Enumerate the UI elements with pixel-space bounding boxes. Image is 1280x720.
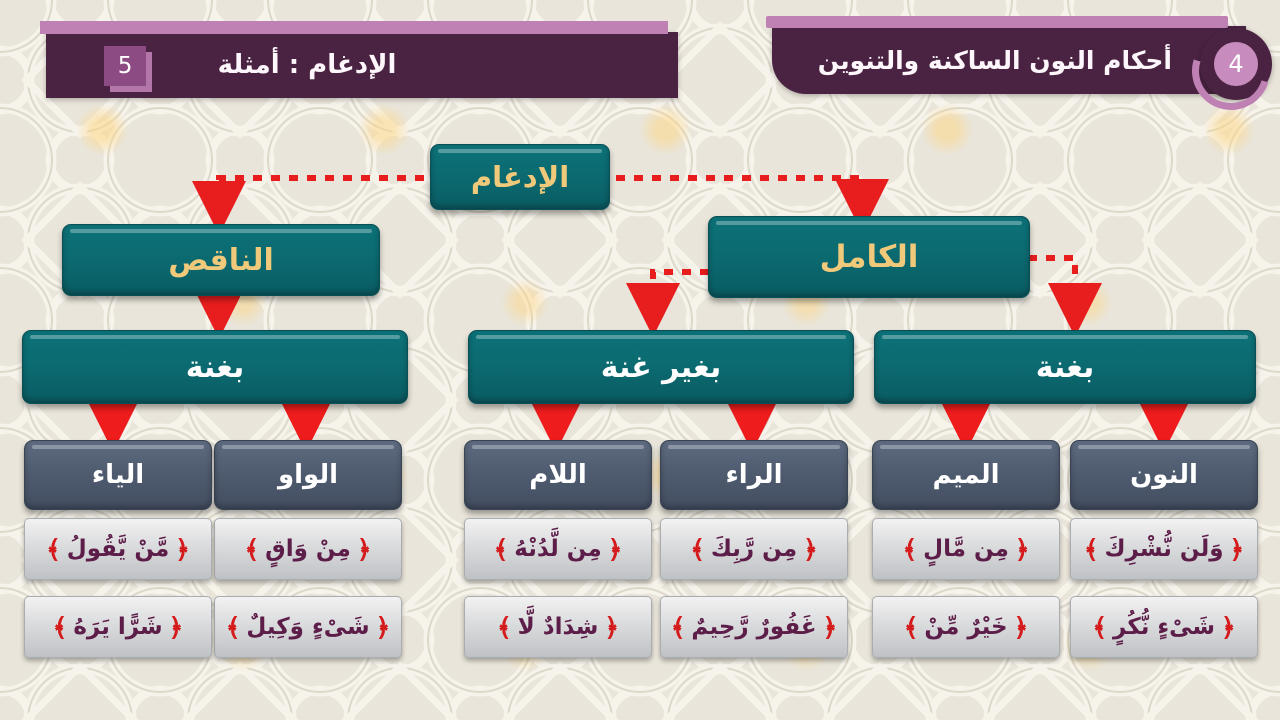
ayah-text: شَىْءٍ نُّكُرٍ <box>1113 614 1215 640</box>
lesson-title-bar: أحكام النون الساكنة والتنوين <box>772 26 1246 94</box>
node-kamil[interactable]: الكامل <box>708 216 1030 298</box>
example-noon-1[interactable]: ﴿ وَلَن نُّشْرِكَ ﴾ <box>1070 518 1258 580</box>
ayah-text: غَفُورٌ رَّحِيمٌ <box>691 614 816 640</box>
letter-box-raa[interactable]: الراء <box>660 440 848 510</box>
ayah-text: شَىْءٍ وَكِيلٌ <box>246 614 369 640</box>
example-meem-2[interactable]: ﴿ خَيْرٌ مِّنْ ﴾ <box>872 596 1060 658</box>
node-highlight <box>882 335 1248 339</box>
ayah-ornament-close: ﴾ <box>226 613 241 642</box>
ayah-ornament-close: ﴾ <box>904 613 919 642</box>
node-bighunnah-kamil[interactable]: بغنة <box>874 330 1256 404</box>
subtitle-accent-strip <box>40 21 668 34</box>
ayah-ornament-open: ﴿ <box>608 535 623 564</box>
ayah-text: مِنْ وَاقٍ <box>265 536 351 562</box>
node-bighunnah-naqis-label: بغنة <box>186 350 245 385</box>
letter-box-waaw[interactable]: الواو <box>214 440 402 510</box>
node-bighunnah-naqis[interactable]: بغنة <box>22 330 408 404</box>
node-highlight <box>716 221 1022 225</box>
chapter-badge-number: 4 <box>1214 42 1258 86</box>
node-bighunnah-kamil-label: بغنة <box>1036 350 1095 385</box>
node-highlight <box>32 445 204 449</box>
title-accent-strip <box>766 16 1228 28</box>
node-highlight <box>30 335 400 339</box>
example-laam-1[interactable]: ﴿ مِن لَّدُنْهُ ﴾ <box>464 518 652 580</box>
ayah-ornament-close: ﴾ <box>53 613 68 642</box>
ayah-text: مِن مَّالٍ <box>923 536 1009 562</box>
example-raa-2[interactable]: ﴿ غَفُورٌ رَّحِيمٌ ﴾ <box>660 596 848 658</box>
chapter-badge: 4 <box>1200 28 1272 100</box>
letter-label-raa: الراء <box>725 460 782 490</box>
example-laam-2[interactable]: ﴿ شِدَادٌ لَّا ﴾ <box>464 596 652 658</box>
node-highlight <box>880 445 1052 449</box>
example-yaa-2[interactable]: ﴿ شَرًّا يَرَهُ ﴾ <box>24 596 212 658</box>
ayah-ornament-open: ﴿ <box>823 613 838 642</box>
ayah-ornament-close: ﴾ <box>671 613 686 642</box>
node-highlight <box>668 445 840 449</box>
example-waaw-1[interactable]: ﴿ مِنْ وَاقٍ ﴾ <box>214 518 402 580</box>
ayah-ornament-open: ﴿ <box>169 613 184 642</box>
ayah-text: خَيْرٌ مِّنْ <box>924 614 1007 640</box>
node-bighayri-ghunnah-label: بغير غنة <box>601 350 721 385</box>
ayah-ornament-open: ﴿ <box>357 535 372 564</box>
ayah-text: مَّنْ يَّقُولُ <box>67 536 170 562</box>
node-highlight <box>476 335 846 339</box>
ayah-text: مِن رَّبِكَ <box>711 536 797 562</box>
ayah-ornament-open: ﴿ <box>803 535 818 564</box>
node-highlight <box>438 149 602 153</box>
ayah-ornament-open: ﴿ <box>1221 613 1236 642</box>
ayah-ornament-close: ﴾ <box>902 535 917 564</box>
ayah-text: مِن لَّدُنْهُ <box>514 536 601 562</box>
ayah-ornament-close: ﴾ <box>690 535 705 564</box>
ayah-ornament-close: ﴾ <box>497 613 512 642</box>
ayah-ornament-close: ﴾ <box>1084 535 1099 564</box>
node-highlight <box>1078 445 1250 449</box>
ayah-text: شَرًّا يَرَهُ <box>73 614 162 640</box>
node-bighayri-ghunnah[interactable]: بغير غنة <box>468 330 854 404</box>
ayah-text: وَلَن نُّشْرِكَ <box>1104 536 1223 562</box>
node-kamil-label: الكامل <box>820 239 919 275</box>
example-yaa-1[interactable]: ﴿ مَّنْ يَّقُولُ ﴾ <box>24 518 212 580</box>
example-noon-2[interactable]: ﴿ شَىْءٍ نُّكُرٍ ﴾ <box>1070 596 1258 658</box>
ayah-ornament-close: ﴾ <box>46 535 61 564</box>
letter-label-waaw: الواو <box>278 460 338 490</box>
example-meem-1[interactable]: ﴿ مِن مَّالٍ ﴾ <box>872 518 1060 580</box>
letter-label-laam: اللام <box>529 460 586 490</box>
example-raa-1[interactable]: ﴿ مِن رَّبِكَ ﴾ <box>660 518 848 580</box>
letter-box-meem[interactable]: الميم <box>872 440 1060 510</box>
node-naqis-label: الناقص <box>168 243 274 278</box>
letter-box-yaa[interactable]: الياء <box>24 440 212 510</box>
ayah-ornament-open: ﴿ <box>1014 613 1029 642</box>
subtitle-bar: 5 الإدغام : أمثلة <box>46 32 678 98</box>
node-highlight <box>222 445 394 449</box>
ayah-ornament-open: ﴿ <box>175 535 190 564</box>
ayah-ornament-close: ﴾ <box>1092 613 1107 642</box>
letter-label-meem: الميم <box>932 460 999 490</box>
ayah-ornament-close: ﴾ <box>245 535 260 564</box>
ayah-text: شِدَادٌ لَّا <box>518 614 599 640</box>
node-naqis[interactable]: الناقص <box>62 224 380 296</box>
letter-box-noon[interactable]: النون <box>1070 440 1258 510</box>
ayah-ornament-open: ﴿ <box>604 613 619 642</box>
subtitle-text: الإدغام : أمثلة <box>218 50 397 80</box>
node-root-label: الإدغام <box>471 160 569 194</box>
page-number-chip: 5 <box>104 46 146 86</box>
lesson-title: أحكام النون الساكنة والتنوين <box>818 46 1172 75</box>
ayah-ornament-open: ﴿ <box>376 613 391 642</box>
ayah-ornament-open: ﴿ <box>1015 535 1030 564</box>
ayah-ornament-close: ﴾ <box>494 535 509 564</box>
letter-label-noon: النون <box>1130 460 1198 490</box>
node-highlight <box>472 445 644 449</box>
example-waaw-2[interactable]: ﴿ شَىْءٍ وَكِيلٌ ﴾ <box>214 596 402 658</box>
node-highlight <box>70 229 372 233</box>
slide-header: أحكام النون الساكنة والتنوين 4 5 الإدغام… <box>0 0 1280 120</box>
node-root-idgham[interactable]: الإدغام <box>430 144 610 210</box>
letter-box-laam[interactable]: اللام <box>464 440 652 510</box>
letter-label-yaa: الياء <box>92 460 144 490</box>
ayah-ornament-open: ﴿ <box>1230 535 1245 564</box>
